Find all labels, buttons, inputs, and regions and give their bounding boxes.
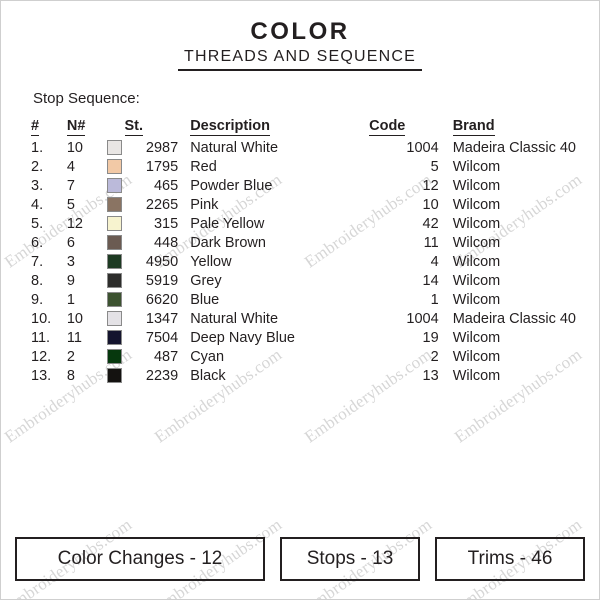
color-swatch [107,235,122,250]
table-header-row: # N# St. Description Code Brand [31,118,576,138]
cell-description: Black [182,366,369,385]
cell-swatch [107,271,125,290]
cell-stitches: 2265 [125,195,183,214]
color-swatch [107,140,122,155]
cell-brand: Wilcom [445,176,576,195]
cell-description: Yellow [182,252,369,271]
color-swatch [107,311,122,326]
cell-brand: Wilcom [445,271,576,290]
cell-stitches: 5919 [125,271,183,290]
cell-stitches: 315 [125,214,183,233]
cell-brand: Madeira Classic 40 [445,138,576,157]
cell-stitches: 1347 [125,309,183,328]
cell-description: Cyan [182,347,369,366]
cell-description: Grey [182,271,369,290]
page-subtitle: THREADS AND SEQUENCE [178,47,422,71]
table-row: 4.52265Pink10Wilcom [31,195,576,214]
cell-code: 1004 [369,309,445,328]
color-swatch [107,368,122,383]
cell-swatch [107,328,125,347]
cell-index: 12. [31,347,61,366]
cell-description: Deep Navy Blue [182,328,369,347]
table-row: 8.95919Grey14Wilcom [31,271,576,290]
page-title: COLOR [1,19,599,46]
cell-code: 10 [369,195,445,214]
header-description: Description [182,118,369,138]
color-swatch [107,273,122,288]
cell-needle: 7 [61,176,107,195]
cell-index: 7. [31,252,61,271]
cell-swatch [107,138,125,157]
cell-brand: Wilcom [445,195,576,214]
stops-box: Stops - 13 [280,537,420,581]
cell-stitches: 1795 [125,157,183,176]
cell-code: 11 [369,233,445,252]
cell-needle: 4 [61,157,107,176]
cell-swatch [107,252,125,271]
cell-needle: 2 [61,347,107,366]
table-row: 11.117504Deep Navy Blue19Wilcom [31,328,576,347]
header-needle: N# [61,118,107,138]
cell-brand: Wilcom [445,252,576,271]
cell-needle: 5 [61,195,107,214]
color-changes-box: Color Changes - 12 [15,537,265,581]
table-row: 12.2487Cyan2Wilcom [31,347,576,366]
table-row: 7.34950Yellow4Wilcom [31,252,576,271]
cell-brand: Wilcom [445,366,576,385]
cell-index: 8. [31,271,61,290]
cell-brand: Wilcom [445,347,576,366]
cell-code: 4 [369,252,445,271]
cell-brand: Wilcom [445,157,576,176]
color-swatch [107,178,122,193]
cell-stitches: 487 [125,347,183,366]
cell-stitches: 7504 [125,328,183,347]
color-swatch [107,159,122,174]
cell-swatch [107,347,125,366]
cell-swatch [107,214,125,233]
cell-index: 5. [31,214,61,233]
cell-swatch [107,195,125,214]
color-swatch [107,292,122,307]
cell-stitches: 6620 [125,290,183,309]
cell-code: 13 [369,366,445,385]
cell-needle: 8 [61,366,107,385]
cell-description: Pale Yellow [182,214,369,233]
color-report-page: Embroideryhubs.comEmbroideryhubs.comEmbr… [0,0,600,600]
cell-index: 2. [31,157,61,176]
cell-swatch [107,157,125,176]
table-row: 6.6448Dark Brown11Wilcom [31,233,576,252]
table-row: 2.41795Red5Wilcom [31,157,576,176]
cell-swatch [107,366,125,385]
cell-index: 10. [31,309,61,328]
header-index: # [31,118,61,138]
color-swatch [107,330,122,345]
cell-description: Blue [182,290,369,309]
cell-index: 9. [31,290,61,309]
cell-swatch [107,233,125,252]
header-code: Code [369,118,445,138]
cell-code: 42 [369,214,445,233]
cell-needle: 10 [61,138,107,157]
cell-code: 1 [369,290,445,309]
cell-code: 5 [369,157,445,176]
cell-stitches: 2987 [125,138,183,157]
cell-index: 6. [31,233,61,252]
title-block: COLOR THREADS AND SEQUENCE [1,1,599,71]
stop-sequence-label: Stop Sequence: [33,90,140,107]
color-table-wrap: # N# St. Description Code Brand 1.102987… [31,118,576,385]
cell-index: 11. [31,328,61,347]
cell-stitches: 4950 [125,252,183,271]
color-swatch [107,197,122,212]
cell-needle: 1 [61,290,107,309]
header-swatch [107,118,125,138]
cell-swatch [107,290,125,309]
cell-index: 3. [31,176,61,195]
cell-needle: 12 [61,214,107,233]
cell-index: 4. [31,195,61,214]
color-swatch [107,254,122,269]
cell-description: Powder Blue [182,176,369,195]
cell-swatch [107,309,125,328]
cell-description: Red [182,157,369,176]
cell-stitches: 465 [125,176,183,195]
cell-index: 13. [31,366,61,385]
cell-brand: Wilcom [445,233,576,252]
color-swatch [107,216,122,231]
color-swatch [107,349,122,364]
color-table: # N# St. Description Code Brand 1.102987… [31,118,576,385]
cell-description: Dark Brown [182,233,369,252]
cell-index: 1. [31,138,61,157]
cell-needle: 10 [61,309,107,328]
table-header: # N# St. Description Code Brand [31,118,576,138]
header-brand: Brand [445,118,576,138]
table-row: 5.12315Pale Yellow42Wilcom [31,214,576,233]
cell-brand: Wilcom [445,214,576,233]
table-row: 1.102987Natural White1004Madeira Classic… [31,138,576,157]
cell-needle: 11 [61,328,107,347]
trims-box: Trims - 46 [435,537,585,581]
table-body: 1.102987Natural White1004Madeira Classic… [31,138,576,385]
cell-needle: 9 [61,271,107,290]
cell-description: Pink [182,195,369,214]
cell-swatch [107,176,125,195]
table-row: 3.7465Powder Blue12Wilcom [31,176,576,195]
cell-code: 1004 [369,138,445,157]
cell-description: Natural White [182,309,369,328]
cell-brand: Madeira Classic 40 [445,309,576,328]
cell-code: 19 [369,328,445,347]
cell-brand: Wilcom [445,290,576,309]
table-row: 13.82239Black13Wilcom [31,366,576,385]
table-row: 9.16620Blue1Wilcom [31,290,576,309]
cell-stitches: 448 [125,233,183,252]
header-stitches: St. [125,118,183,138]
summary-footer: Color Changes - 12 Stops - 13 Trims - 46 [15,537,585,581]
cell-needle: 3 [61,252,107,271]
cell-code: 14 [369,271,445,290]
cell-stitches: 2239 [125,366,183,385]
table-row: 10.101347Natural White1004Madeira Classi… [31,309,576,328]
cell-code: 2 [369,347,445,366]
cell-code: 12 [369,176,445,195]
cell-needle: 6 [61,233,107,252]
cell-brand: Wilcom [445,328,576,347]
cell-description: Natural White [182,138,369,157]
